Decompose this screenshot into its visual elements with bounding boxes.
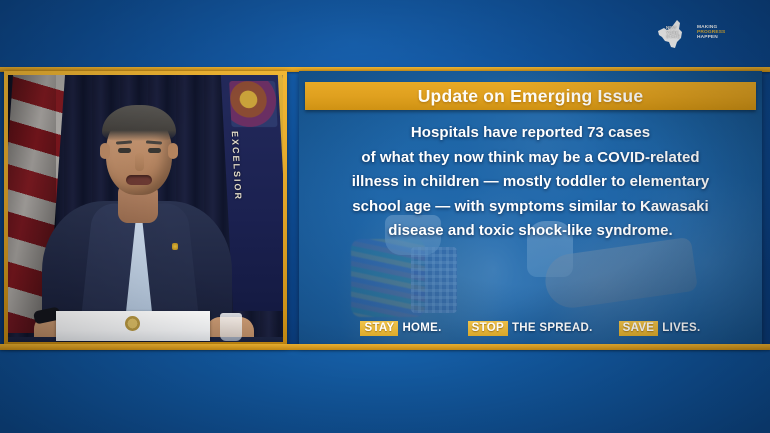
logo-state-line-3: STATE — [666, 35, 696, 40]
slide-body-text: Hospitals have reported 73 cases of what… — [311, 121, 750, 244]
slide-title: Update on Emerging Issue — [418, 86, 644, 107]
ear-right — [168, 143, 178, 159]
desk-placard — [56, 311, 210, 341]
speaker-figure — [56, 97, 216, 342]
hair — [102, 105, 176, 141]
slide-body-line: school age — with symptoms similar to Ka… — [311, 195, 750, 220]
new-york-state-logo: NEW YORK STATE MAKING PROGRESS HAPPEN — [657, 16, 735, 52]
state-seal — [229, 81, 277, 127]
slogan-item: STAY HOME. — [360, 321, 441, 336]
slide-body-line: Hospitals have reported 73 cases — [311, 121, 750, 146]
nose — [135, 153, 144, 171]
slide-title-banner: Update on Emerging Issue — [305, 82, 756, 110]
flag-fringe — [278, 75, 283, 311]
slide-body-line: disease and toxic shock-like syndrome. — [311, 219, 750, 244]
slogan-highlight: STAY — [360, 321, 398, 336]
slogan-rest: LIVES. — [662, 322, 700, 334]
logo-tag-line-3: HAPPEN — [697, 35, 735, 40]
presentation-slide[interactable]: Update on Emerging Issue Hospitals have … — [299, 71, 762, 346]
gold-rule-bottom — [0, 344, 770, 350]
mouth — [126, 175, 152, 185]
logo-tagline: MAKING PROGRESS HAPPEN — [697, 25, 735, 41]
slogan-rest: THE SPREAD. — [512, 322, 593, 334]
logo-state-text: NEW YORK STATE — [666, 26, 696, 40]
ear-left — [100, 143, 110, 159]
slide-body-line: illness in children — mostly toddler to … — [311, 170, 750, 195]
slogan-rest: HOME. — [402, 322, 441, 334]
video-feed-panel[interactable]: EXCELSIOR — [4, 71, 287, 346]
public-health-slogan-row: STAY HOME. STOP THE SPREAD. SAVE LIVES. — [299, 319, 762, 337]
slogan-highlight: SAVE — [619, 321, 659, 336]
flag-motto-text: EXCELSIOR — [230, 131, 244, 201]
eye-left — [118, 148, 131, 153]
slogan-item: STOP THE SPREAD. — [468, 321, 593, 336]
water-glass — [220, 313, 242, 341]
video-feed-inner: EXCELSIOR — [8, 75, 283, 342]
placard-seal-icon — [125, 316, 140, 331]
eye-right — [148, 148, 161, 153]
slide-body-line: of what they now think may be a COVID-re… — [311, 146, 750, 171]
slogan-item: SAVE LIVES. — [619, 321, 701, 336]
lapel-pin-icon — [172, 243, 178, 250]
slogan-highlight: STOP — [468, 321, 508, 336]
studio-backdrop-lower — [0, 350, 770, 433]
broadcast-screen: NEW YORK STATE MAKING PROGRESS HAPPEN EX… — [0, 0, 770, 433]
